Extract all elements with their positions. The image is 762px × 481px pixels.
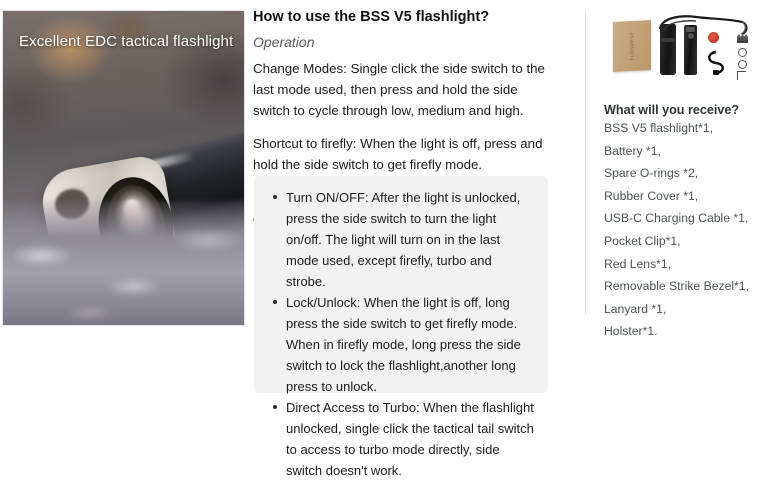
list-item-text: Lock/Unlock: When the light is off, long…: [286, 295, 521, 394]
paragraph-shortcut-firefly: Shortcut to firefly: When the light is o…: [253, 133, 549, 175]
section-subheading: Operation: [253, 33, 549, 51]
list-item: Battery *1,: [604, 143, 756, 160]
lanyard-icon: [656, 13, 752, 39]
paragraph-change-modes: Change Modes: Single click the side swit…: [253, 58, 549, 121]
list-item: Lock/Unlock: When the light is off, long…: [286, 292, 534, 397]
list-item: Spare O-rings *2,: [604, 165, 756, 182]
kraft-box-label: TURNMENT: [630, 29, 635, 63]
strike-bezel-shape: [737, 34, 748, 43]
notes-panel: Turn ON/OFF: After the light is unlocked…: [254, 176, 548, 393]
column-divider: [585, 12, 586, 315]
hero-image: Excellent EDC tactical flashlight: [2, 10, 245, 326]
o-ring-shape-2: [738, 60, 747, 69]
bullet-icon: [273, 300, 277, 304]
list-item: Removable Strike Bezel*1,: [604, 278, 756, 295]
notes-list: Turn ON/OFF: After the light is unlocked…: [268, 187, 534, 481]
package-contents-column: TURNMENT What will you receive?: [604, 8, 756, 346]
list-item: BSS V5 flashlight*1,: [604, 120, 756, 137]
usb-c-cable-icon: [704, 50, 728, 76]
hero-ground-blur: [2, 201, 245, 326]
pocket-clip-shape: [737, 71, 746, 80]
o-ring-shape-1: [738, 48, 747, 57]
list-item-text: Turn ON/OFF: After the light is unlocked…: [286, 190, 520, 289]
package-contents-heading: What will you receive?: [604, 102, 756, 119]
kraft-box-shape: TURNMENT: [613, 20, 651, 72]
hero-caption: Excellent EDC tactical flashlight: [19, 33, 233, 51]
list-item: Turn ON/OFF: After the light is unlocked…: [286, 187, 534, 292]
list-item: Lanyard *1,: [604, 301, 756, 318]
list-item: Holster*1.: [604, 323, 756, 340]
page-title: How to use the BSS V5 flashlight?: [253, 8, 549, 27]
list-item: Rubber Cover *1,: [604, 188, 756, 205]
list-item: Pocket Clip*1,: [604, 233, 756, 250]
bullet-icon: [273, 405, 277, 409]
list-item: USB-C Charging Cable *1,: [604, 210, 756, 227]
list-item-text: Direct Access to Turbo: When the flashli…: [286, 400, 534, 478]
list-item: Direct Access to Turbo: When the flashli…: [286, 397, 534, 481]
bullet-icon: [273, 195, 277, 199]
product-detail-module: Excellent EDC tactical flashlight How to…: [0, 0, 762, 409]
package-contents-image: TURNMENT: [604, 8, 756, 86]
list-item: Red Lens*1,: [604, 256, 756, 273]
package-contents-list: BSS V5 flashlight*1, Battery *1, Spare O…: [604, 120, 756, 340]
